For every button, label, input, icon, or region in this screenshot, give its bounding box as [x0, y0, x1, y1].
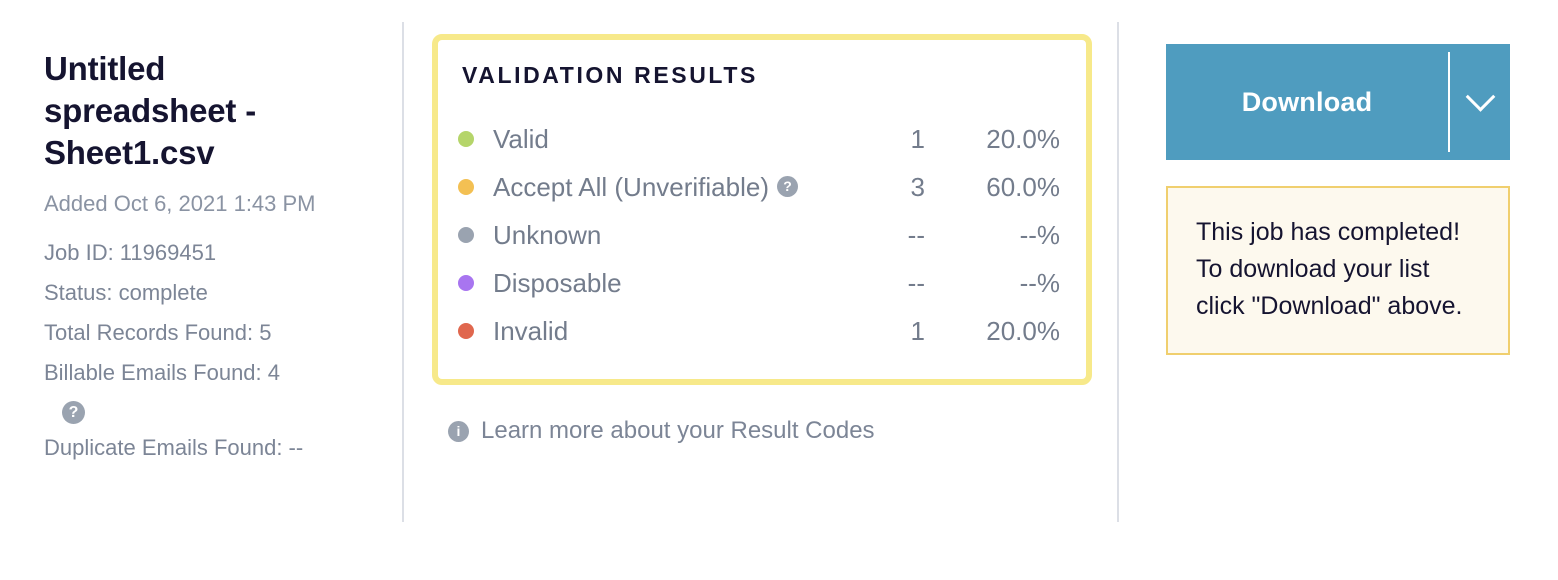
result-count: --: [815, 268, 925, 299]
result-count: --: [815, 220, 925, 251]
result-percent: 20.0%: [925, 124, 1060, 155]
status-dot-unknown: [458, 227, 474, 243]
validation-results-heading: VALIDATION RESULTS: [458, 62, 1060, 89]
result-label: Unknown: [493, 220, 815, 251]
file-summary-panel: Untitled spreadsheet - Sheet1.csv Added …: [44, 48, 384, 468]
help-icon[interactable]: ?: [62, 401, 85, 424]
status-dot-accept-all: [458, 179, 474, 195]
learn-more-label: Learn more about your Result Codes: [481, 417, 875, 445]
job-results-screen: Untitled spreadsheet - Sheet1.csv Added …: [0, 0, 1558, 580]
result-percent: 60.0%: [925, 172, 1060, 203]
download-button[interactable]: Download: [1166, 44, 1448, 160]
duplicate-emails-found: Duplicate Emails Found: --: [44, 428, 344, 468]
page-title: Untitled spreadsheet - Sheet1.csv: [44, 48, 354, 175]
learn-more-result-codes-link[interactable]: i Learn more about your Result Codes: [432, 417, 1092, 445]
download-button-group: Download: [1166, 44, 1510, 160]
billable-emails-help-row: ?: [44, 393, 384, 428]
job-status: Status: complete: [44, 273, 384, 313]
job-id: Job ID: 11969451: [44, 233, 384, 273]
info-icon: i: [448, 421, 469, 442]
job-meta-list: Job ID: 11969451 Status: complete Total …: [44, 233, 384, 468]
added-date: Added Oct 6, 2021 1:43 PM: [44, 189, 344, 219]
chevron-down-icon: [1465, 81, 1495, 111]
result-label: Disposable: [493, 268, 815, 299]
job-completed-notice: This job has completed! To download your…: [1166, 186, 1510, 355]
total-records-found: Total Records Found: 5: [44, 313, 384, 353]
result-row-accept-all: Accept All (Unverifiable)? 3 60.0%: [458, 163, 1060, 211]
result-percent: 20.0%: [925, 316, 1060, 347]
result-label: Valid: [493, 124, 815, 155]
result-count: 1: [815, 316, 925, 347]
result-percent: --%: [925, 268, 1060, 299]
result-row-disposable: Disposable -- --%: [458, 259, 1060, 307]
status-dot-invalid: [458, 323, 474, 339]
billable-emails-found: Billable Emails Found: 4: [44, 353, 384, 393]
download-dropdown-button[interactable]: [1450, 44, 1510, 160]
result-label: Accept All (Unverifiable)?: [493, 172, 815, 203]
result-row-invalid: Invalid 1 20.0%: [458, 307, 1060, 355]
validation-results-panel: VALIDATION RESULTS Valid 1 20.0% Accept …: [432, 34, 1092, 385]
result-row-unknown: Unknown -- --%: [458, 211, 1060, 259]
column-divider-right: [1117, 22, 1119, 522]
result-percent: --%: [925, 220, 1060, 251]
status-dot-disposable: [458, 275, 474, 291]
help-icon[interactable]: ?: [777, 176, 798, 197]
result-label: Invalid: [493, 316, 815, 347]
status-dot-valid: [458, 131, 474, 147]
result-row-valid: Valid 1 20.0%: [458, 115, 1060, 163]
result-count: 1: [815, 124, 925, 155]
validation-results-section: VALIDATION RESULTS Valid 1 20.0% Accept …: [432, 34, 1092, 445]
actions-panel: Download This job has completed! To down…: [1166, 44, 1510, 355]
result-count: 3: [815, 172, 925, 203]
result-label-text: Accept All (Unverifiable): [493, 172, 769, 202]
column-divider-left: [402, 22, 404, 522]
